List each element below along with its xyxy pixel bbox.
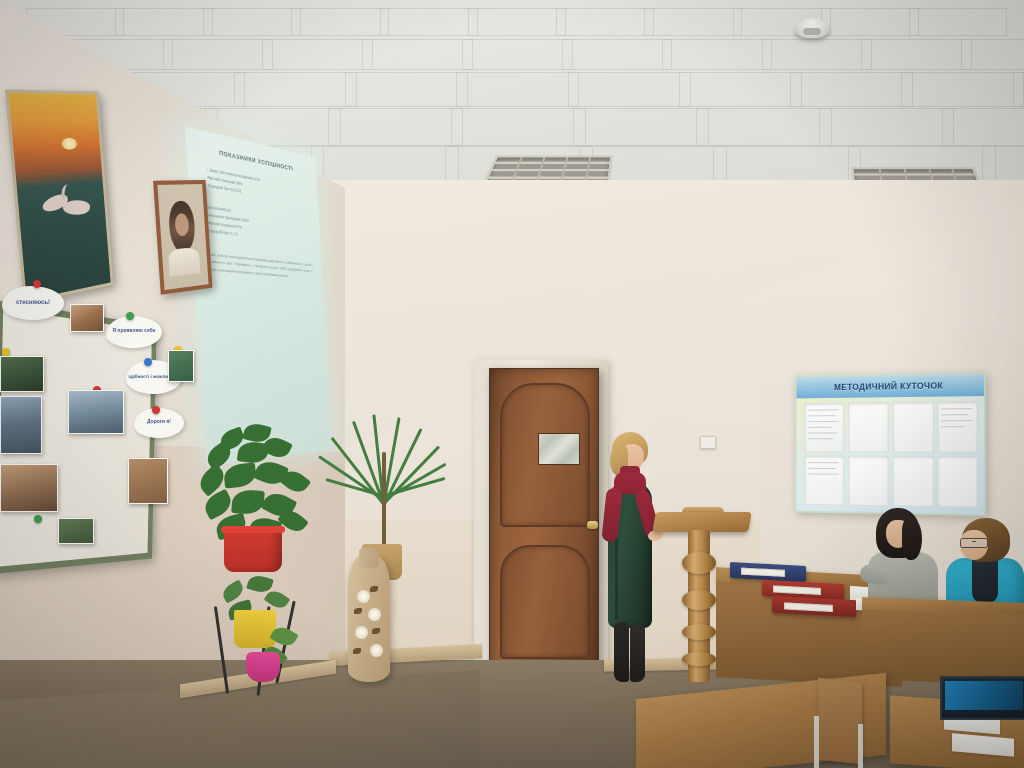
iron-plant-stand [206, 566, 302, 696]
cloud-note-1: Я проявляю себе [106, 316, 162, 348]
slide-paragraph: За час роботи спостерігається позитивна … [205, 250, 313, 281]
computer-monitor[interactable] [940, 676, 1024, 720]
swan-neck [60, 184, 72, 202]
board-photo [168, 350, 194, 382]
lectern-knob [682, 590, 716, 610]
binder-label [773, 586, 821, 595]
attendee-lapel [972, 560, 998, 604]
vase-flower [357, 590, 370, 603]
pushpin-icon [33, 280, 41, 288]
ceiling-tile [291, 8, 389, 36]
ceiling-tile [556, 8, 654, 36]
vase-flower [355, 626, 368, 639]
ceiling-tile [573, 108, 708, 146]
attendee-hair-side [902, 518, 922, 560]
pushpin-icon [152, 406, 160, 414]
plant-red-pot [194, 424, 322, 574]
slide-content: ПОКАЗНИКИ УСПІШНОСТІ Зима: обстежено пок… [185, 126, 332, 465]
attendee-desk-front [862, 609, 1024, 685]
board-photo [0, 396, 42, 454]
cloud-note-0: стесняюсь! [2, 286, 64, 320]
board-photo [70, 304, 104, 332]
pink-flower-pot [246, 652, 280, 682]
binder-label [741, 568, 786, 577]
document-pocket [848, 456, 889, 507]
document-pocket [805, 455, 845, 505]
light-switch[interactable] [700, 436, 716, 449]
ceiling-tile [961, 39, 1024, 70]
portrait-head [168, 201, 197, 254]
document-pocket [937, 456, 978, 508]
ceiling-tile [901, 72, 1024, 107]
glasses-icon [960, 538, 988, 548]
vase-leaf [353, 648, 361, 654]
ceiling-tile [362, 39, 472, 70]
ceiling-tile [562, 39, 672, 70]
method-board-header: МЕТОДИЧНИЙ КУТОЧОК [796, 374, 984, 398]
lectern-knob [682, 652, 716, 666]
vase-flower [370, 644, 383, 657]
lectern-knob [682, 552, 716, 574]
ceiling-tile [234, 72, 357, 107]
ceiling-tile [115, 8, 213, 36]
lectern-knob [682, 624, 716, 640]
board-photo [128, 458, 168, 504]
ceiling-tile [468, 8, 566, 36]
ceiling-tile [456, 72, 579, 107]
ceiling-tile [819, 108, 954, 146]
board-photo [0, 464, 58, 512]
vase-leaf [354, 608, 362, 614]
ceiling-tile [568, 72, 691, 107]
methodical-corner-board: МЕТОДИЧНИЙ КУТОЧОК [795, 372, 986, 516]
ceiling-tile [163, 39, 273, 70]
ceiling-tile [790, 72, 913, 107]
presenter-boot-left [614, 622, 629, 682]
ceiling-tile [909, 8, 1007, 36]
pushpin-icon [144, 358, 152, 366]
ceiling-tile [821, 8, 919, 36]
ceiling-tile [762, 39, 872, 70]
door-window [538, 433, 580, 465]
pushpin-icon [34, 515, 42, 523]
document-pocket [893, 456, 935, 507]
document-pocket [937, 401, 978, 453]
ceiling-tile [942, 108, 1024, 146]
swan-icon [62, 199, 90, 215]
board-photo [0, 356, 44, 392]
classroom-photo: ПОКАЗНИКИ УСПІШНОСТІ Зима: обстежено пок… [0, 0, 1024, 768]
binder-label [784, 602, 833, 611]
ceiling-tile [861, 39, 971, 70]
chair-leg [858, 724, 863, 768]
ceiling-tile [345, 72, 468, 107]
wooden-door[interactable] [489, 368, 599, 670]
board-photo [58, 518, 94, 544]
monitor-screen [945, 681, 1023, 710]
ceiling-tile [679, 72, 802, 107]
vase-leaf [370, 586, 378, 592]
pushpin-icon [2, 348, 10, 356]
door-panel-lower [500, 545, 590, 659]
lectern-top [652, 512, 752, 532]
vase-neck [359, 548, 379, 568]
smoke-detector-icon [795, 18, 829, 38]
vase-leaf [372, 628, 380, 634]
sun-glow [61, 138, 78, 150]
vase-flower [368, 608, 381, 621]
chair-leg [814, 716, 819, 768]
pushpin-icon [126, 312, 134, 320]
ceiling-tile [1013, 72, 1024, 107]
decorative-floor-vase [348, 556, 390, 682]
ceiling-tile [203, 8, 301, 36]
chair-back[interactable] [818, 678, 862, 765]
yellow-flower-pot [234, 610, 276, 648]
ceiling-tile [262, 39, 372, 70]
presenter-boot-right [630, 624, 645, 682]
ceiling-tile [380, 8, 478, 36]
ceiling-tile [696, 108, 831, 146]
door-panel-upper [500, 383, 590, 527]
ceiling-tile [662, 39, 772, 70]
document-pocket [893, 402, 935, 453]
ceiling-tile [451, 108, 586, 146]
bulletin-content: стесняюсь! Я проявляю себе здібності і м… [0, 268, 200, 568]
ceiling-tile [644, 8, 742, 36]
ceiling-tile [462, 39, 572, 70]
document-pocket [805, 403, 845, 453]
board-photo [68, 390, 124, 434]
document-pocket [848, 402, 889, 453]
